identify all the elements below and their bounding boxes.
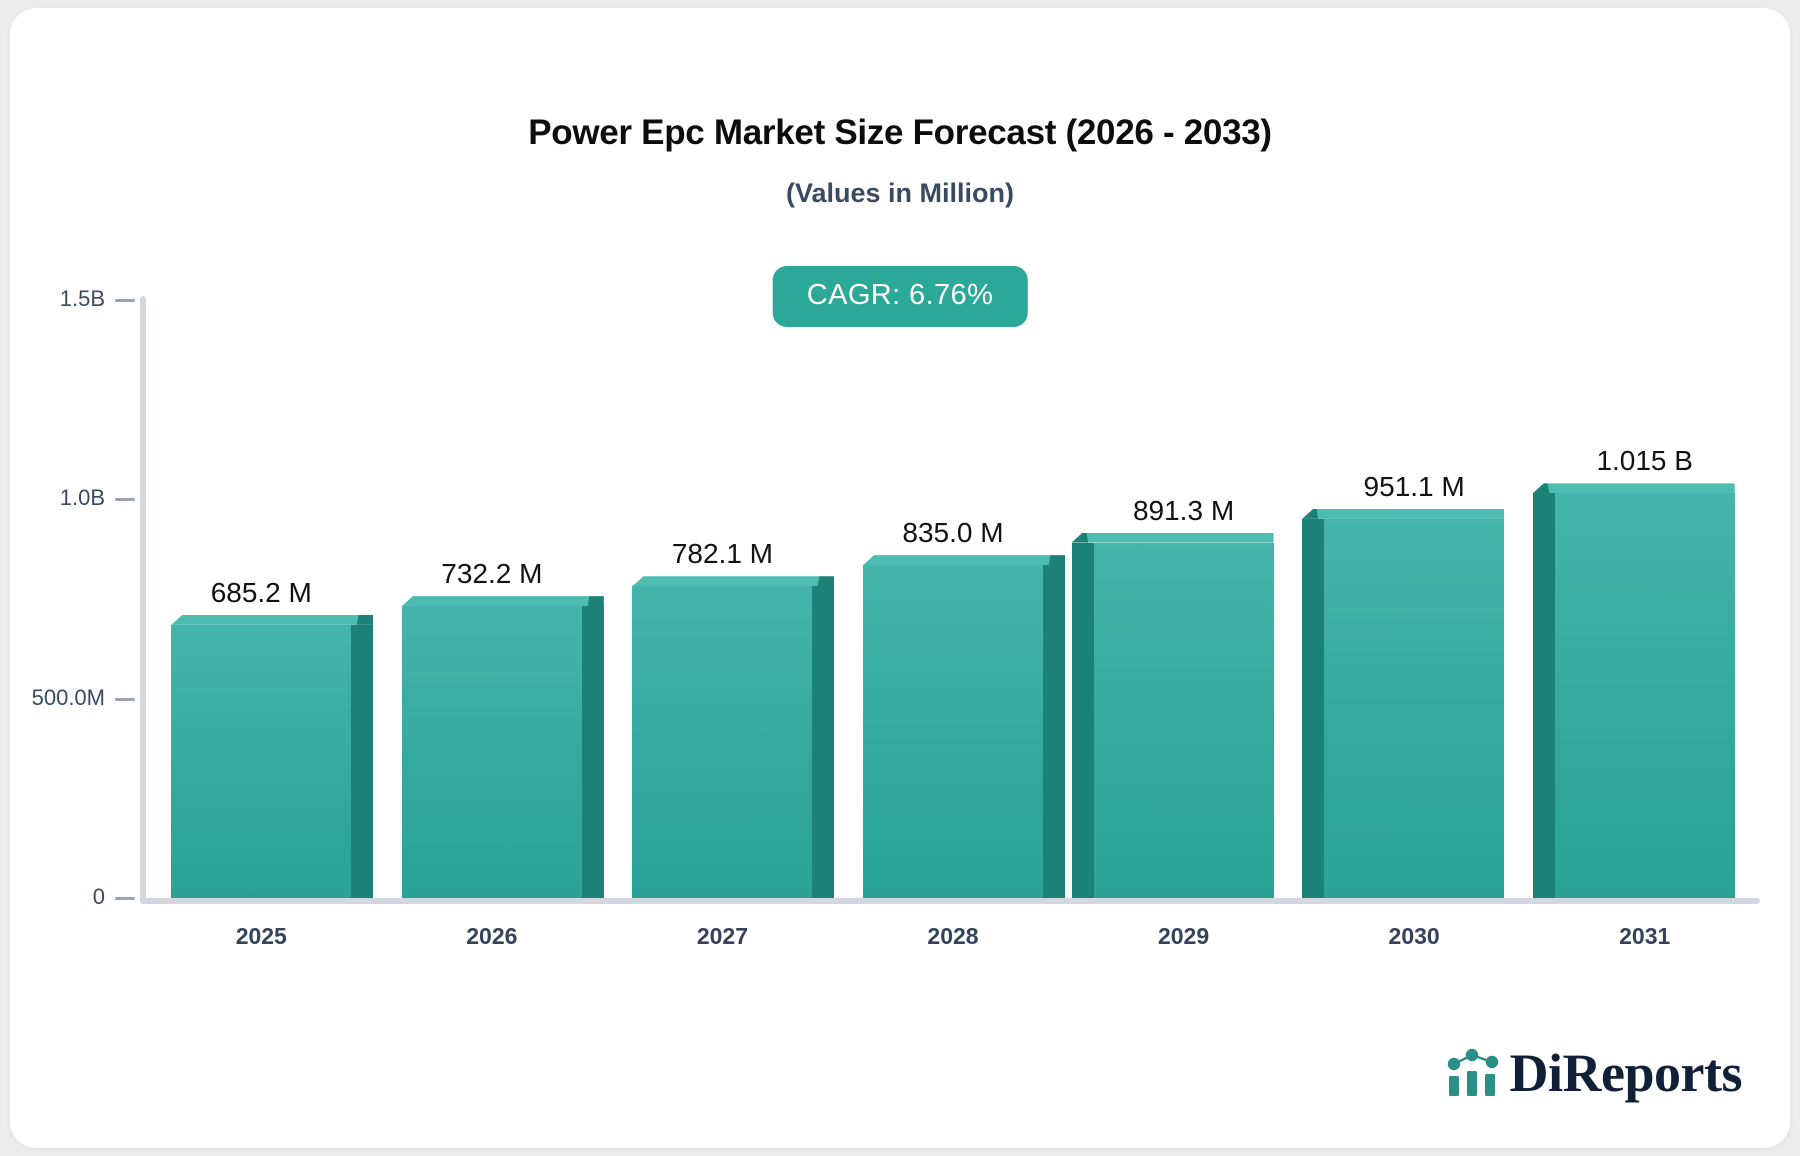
bar-2031[interactable] [1555,493,1735,898]
bar-2029[interactable] [1094,543,1274,898]
y-tick-label: 0 [10,884,105,910]
bar-2025[interactable] [171,625,351,898]
chart-card: Power Epc Market Size Forecast (2026 - 2… [10,8,1790,1148]
bar-2028[interactable] [863,565,1043,898]
bar-top-face [1072,533,1274,543]
bar-depth-face [1302,519,1324,898]
x-tick-label: 2026 [372,923,612,950]
bar-depth-face [582,606,604,898]
x-tick-label: 2029 [1064,923,1304,950]
y-tick-mark [115,299,135,302]
bar-top-face [1533,483,1735,493]
x-tick-label: 2025 [141,923,381,950]
y-tick-mark [115,897,135,900]
bar-depth-face [812,586,834,898]
bar-front-face [1555,493,1735,898]
bar-top-face [632,576,834,586]
y-tick-label: 1.5B [10,286,105,312]
x-tick-label: 2028 [833,923,1073,950]
bar-top-face [171,615,373,625]
bar-depth-face [351,625,373,898]
y-tick-label: 500.0M [10,685,105,711]
bar-top-face [863,555,1065,565]
bar-2026[interactable] [402,606,582,898]
bar-depth-face [1533,493,1555,898]
bar-2027[interactable] [632,586,812,898]
bar-value-label: 1.015 B [1485,445,1790,477]
bar-front-face [1324,519,1504,898]
x-tick-label: 2030 [1294,923,1534,950]
y-tick-mark [115,498,135,501]
bar-2030[interactable] [1324,519,1504,898]
bar-depth-face [1043,565,1065,898]
bar-depth-face [1072,543,1094,898]
bar-front-face [171,625,351,898]
bar-top-face [1302,509,1504,519]
brand-logo: DiReports [1446,1046,1742,1100]
bar-front-face [402,606,582,898]
bar-top-face [402,596,604,606]
y-tick-mark [115,698,135,701]
bar-front-face [1094,543,1274,898]
bar-front-face [863,565,1043,898]
chart-plot-area: 0500.0M1.0B1.5B 685.2 M732.2 M782.1 M835… [10,8,1790,1148]
bar-front-face [632,586,812,898]
x-tick-label: 2027 [602,923,842,950]
y-tick-label: 1.0B [10,485,105,511]
brand-name: DiReports [1510,1046,1742,1100]
x-axis-line [140,898,1760,904]
x-tick-label: 2031 [1525,923,1765,950]
bar-chart-icon [1446,1047,1502,1099]
